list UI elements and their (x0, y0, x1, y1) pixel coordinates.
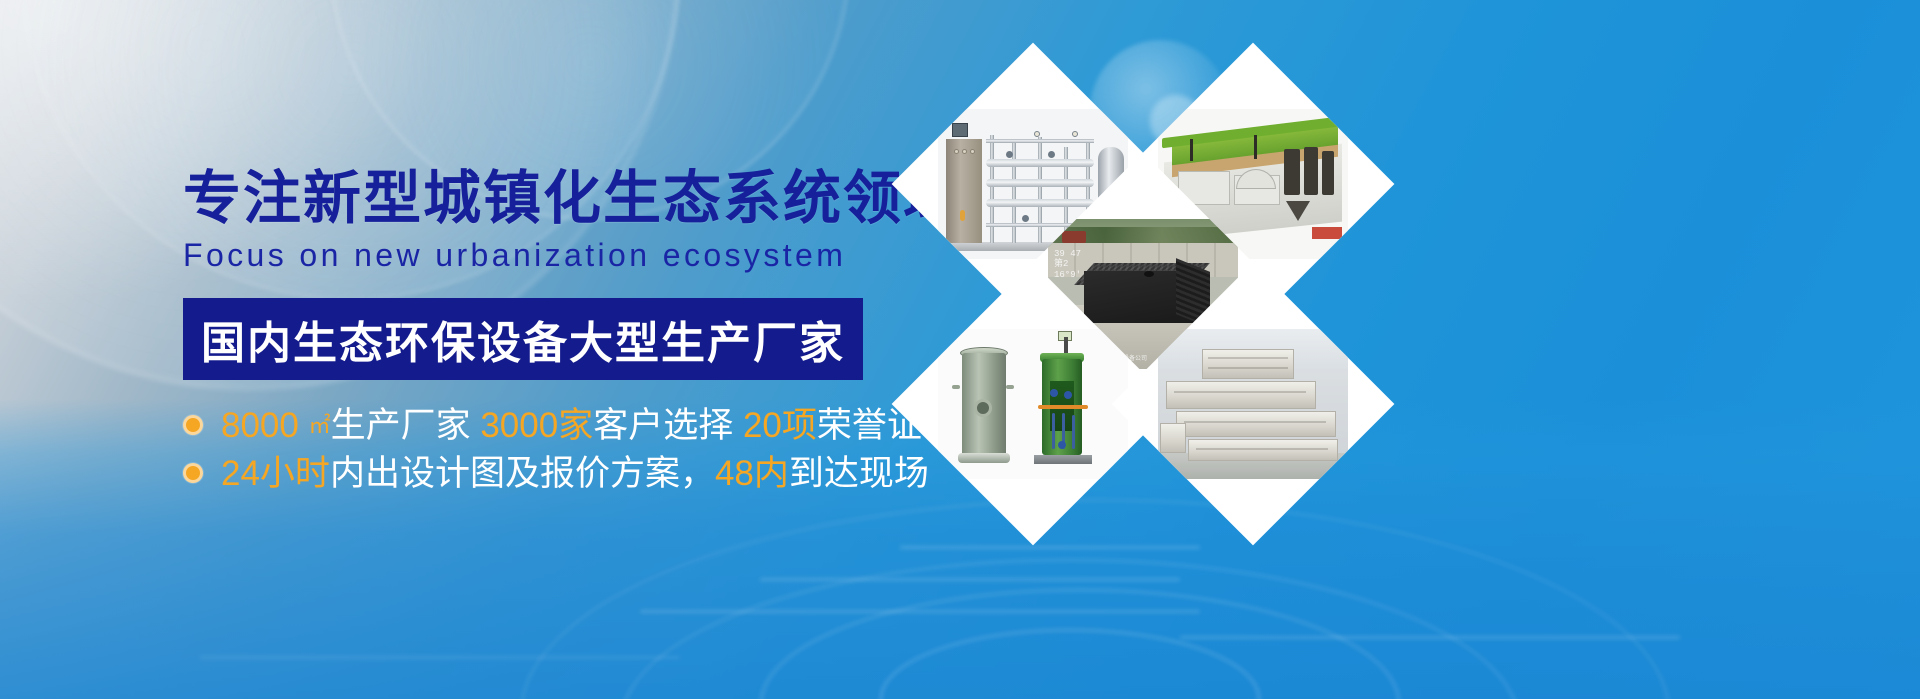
photo-frp-vessel-and-pump-station (938, 329, 1128, 479)
bullet-dot-icon (183, 463, 203, 483)
diamond-photo-gallery: 39 47 第2 16°9' 000-07-01 某某环保设备公司 (905, 52, 1325, 482)
banner-highlight-bar-text: 国内生态环保设备大型生产厂家 (201, 307, 845, 371)
photo-overlay-coordinates: 39 47 第2 16°9' (1054, 249, 1081, 280)
bullet-segment: 48内 (715, 454, 789, 493)
bullet-dot-icon (183, 415, 203, 435)
water-streak (200, 656, 680, 659)
bullet-segment: 生产厂家 (331, 406, 481, 445)
water-streak (640, 610, 1200, 613)
water-streak (900, 546, 1200, 549)
bullet-segment: 客户选择 (593, 406, 743, 445)
banner-headline: 专注新型城镇化生态系统领域 (183, 168, 903, 229)
bullet-segment: ㎡ (309, 413, 331, 438)
bullet-text: 8000 ㎡生产厂家 3000家客户选择 20项荣誉证书 (221, 408, 957, 443)
banner-text-block: 专注新型城镇化生态系统领域 Focus on new urbanization … (183, 168, 903, 497)
bullet-item: 8000 ㎡生产厂家 3000家客户选择 20项荣誉证书 (183, 401, 903, 449)
banner-bullet-list: 8000 ㎡生产厂家 3000家客户选择 20项荣誉证书 24小时内出设计图及报… (183, 401, 903, 497)
banner-subheadline-english: Focus on new urbanization ecosystem (183, 237, 903, 274)
bullet-item: 24小时内出设计图及报价方案，48内到达现场 (183, 449, 903, 497)
bullet-segment: 24小时 (221, 454, 330, 493)
hero-banner: 专注新型城镇化生态系统领域 Focus on new urbanization … (0, 0, 1920, 699)
bullet-segment: 20项 (743, 406, 817, 445)
bullet-segment: 3000家 (480, 406, 593, 445)
bullet-text: 24小时内出设计图及报价方案，48内到达现场 (221, 456, 929, 491)
banner-highlight-bar: 国内生态环保设备大型生产厂家 (183, 298, 863, 380)
bullet-segment: 内出设计图及报价方案， (330, 454, 715, 493)
water-streak (760, 578, 1180, 581)
bullet-segment: 8000 (221, 406, 309, 445)
photo-stacked-precast-panels (1158, 329, 1348, 479)
water-streak (1180, 636, 1680, 639)
